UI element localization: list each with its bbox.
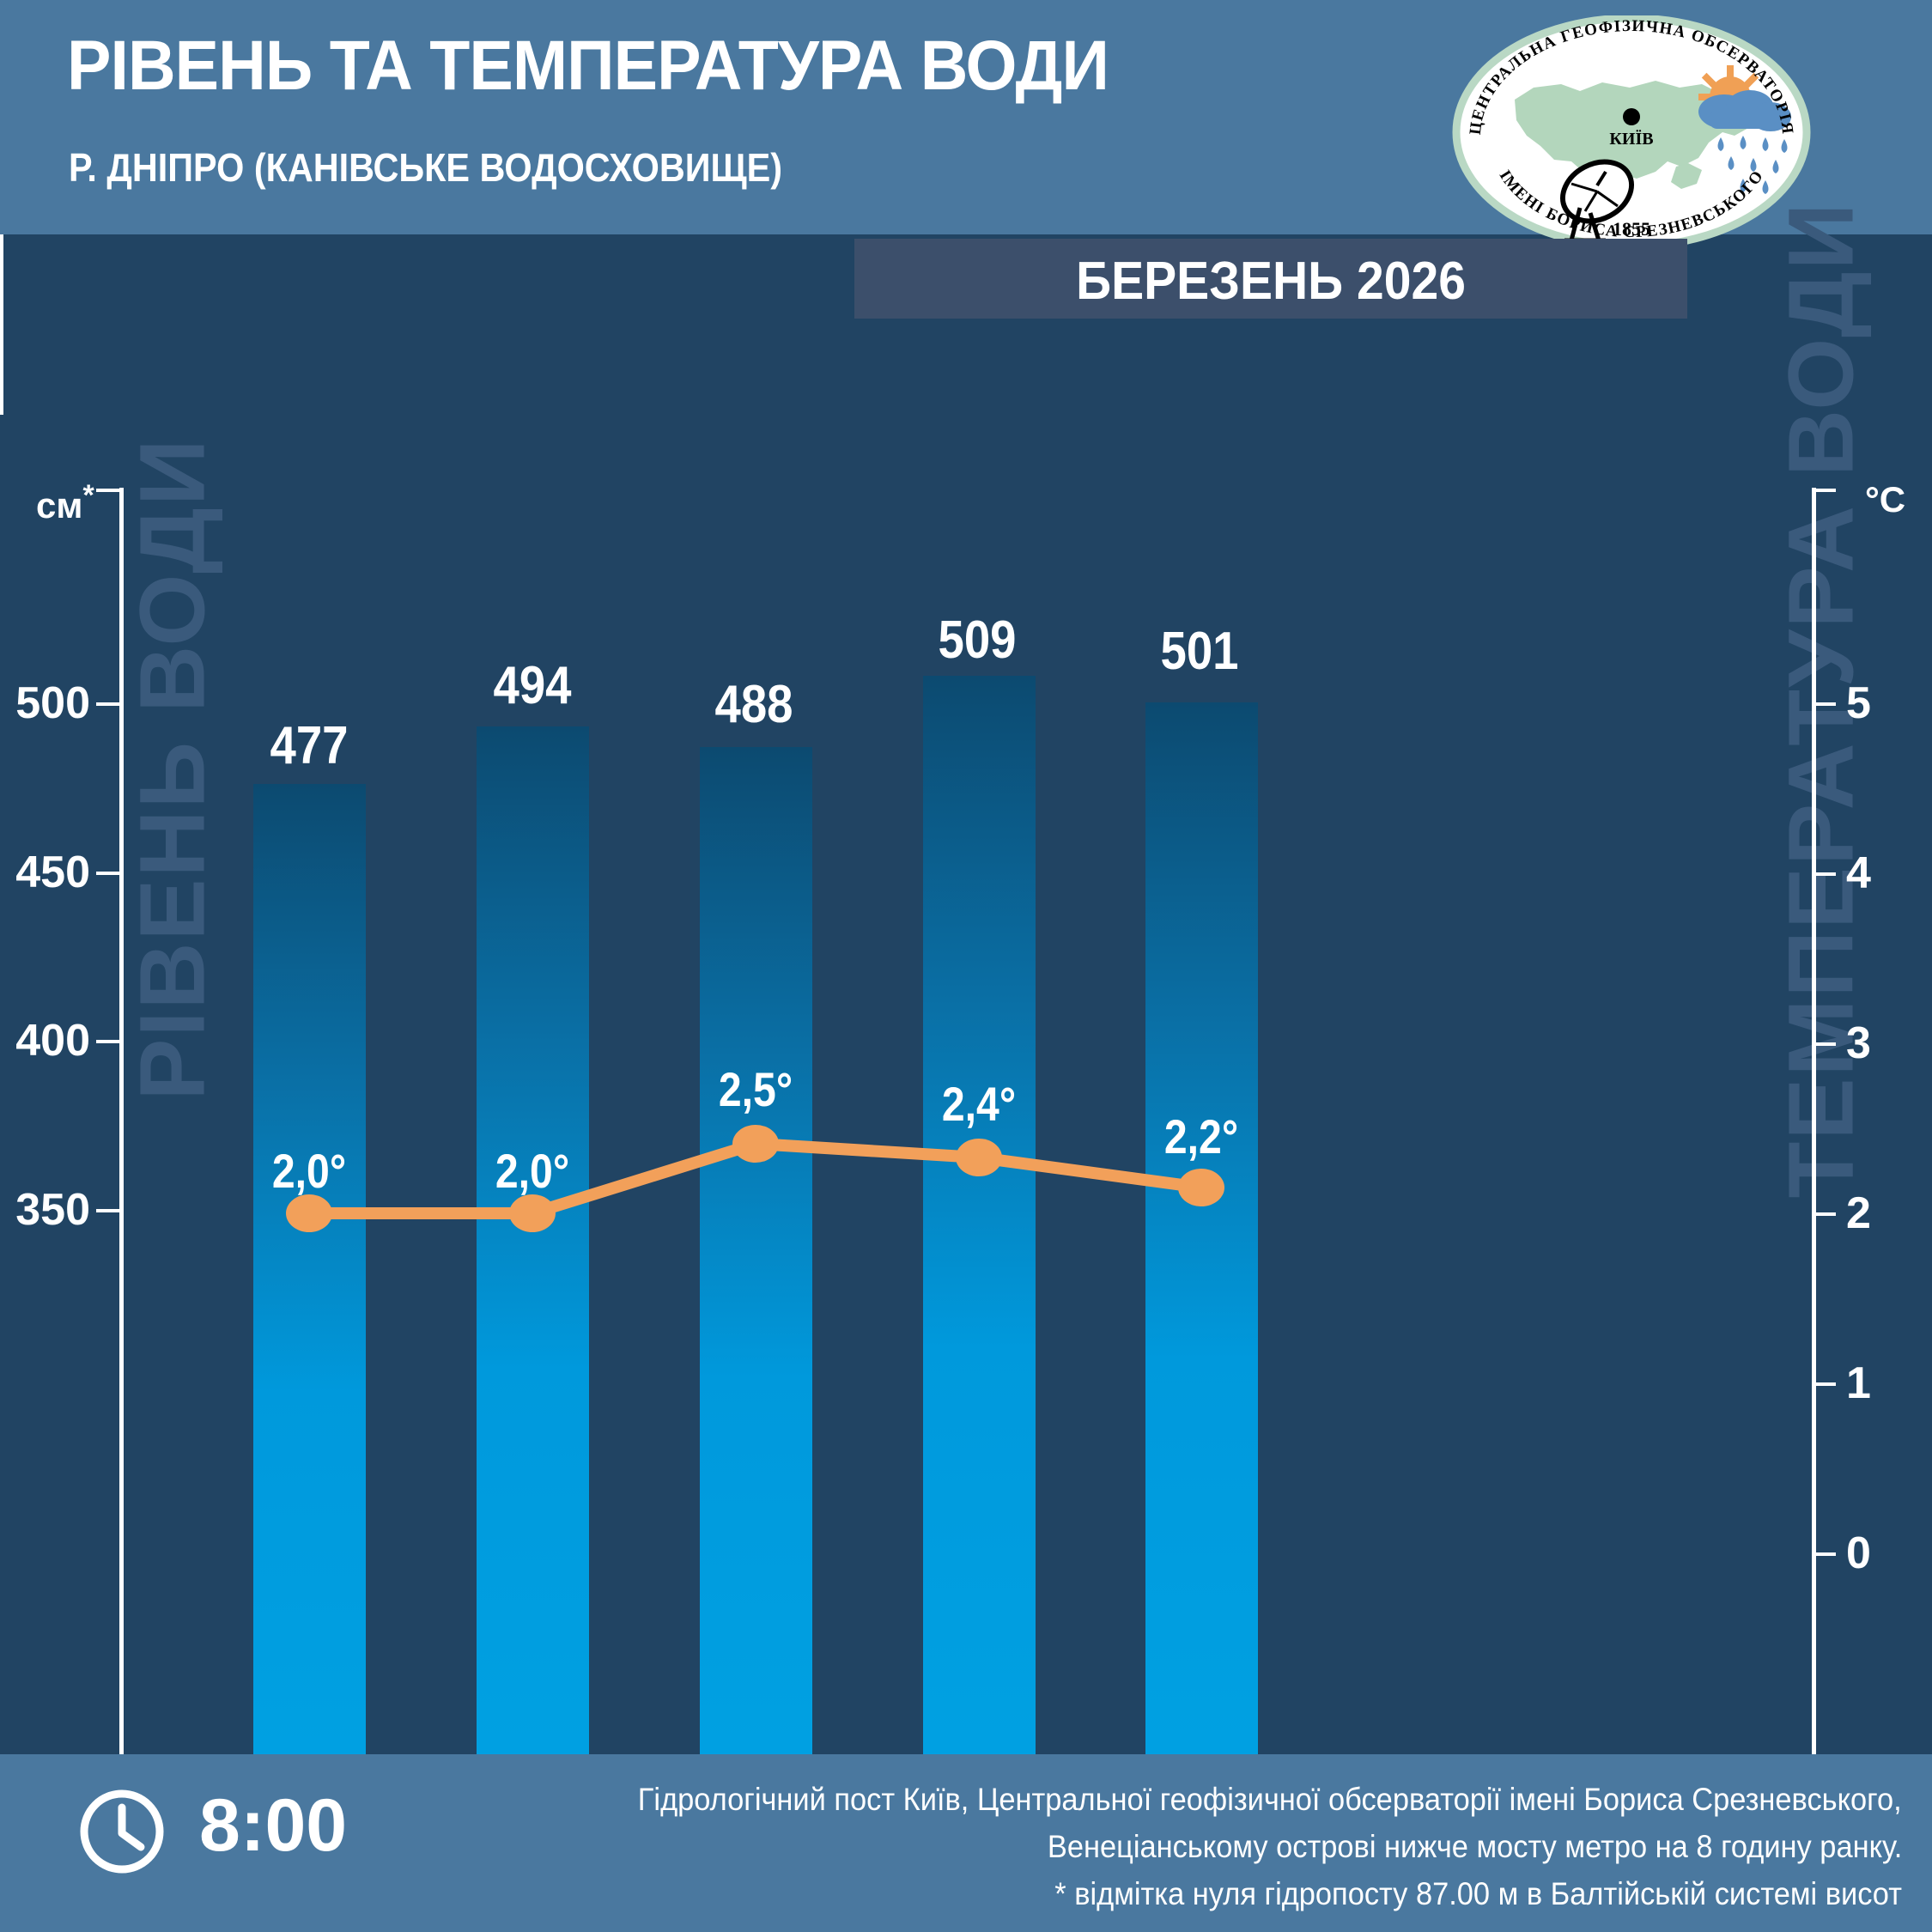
temp-label-18: 2,5° bbox=[667, 1061, 844, 1117]
page-footer: 8:00 Гідрологічний пост Київ, Центрально… bbox=[0, 1754, 1932, 1932]
page-title: РІВЕНЬ ТА ТЕМПЕРАТУРА ВОДИ bbox=[67, 26, 1109, 106]
footer-line-1: Гідрологічний пост Київ, Центральної гео… bbox=[638, 1782, 1902, 1818]
observation-time: 8:00 bbox=[199, 1783, 347, 1868]
temp-label-16: 2,0° bbox=[221, 1143, 398, 1199]
chart-area: РІВЕНЬ ВОДИ ТЕМПЕРАТУРА ВОДИ см* °C 500 … bbox=[0, 234, 1932, 1754]
temp-label-17: 2,0° bbox=[444, 1143, 621, 1199]
logo-city-label: КИЇВ bbox=[1609, 129, 1653, 149]
clock-icon bbox=[76, 1785, 168, 1878]
footer-line-3: * відмітка нуля гідропосту 87.00 м в Бал… bbox=[1054, 1876, 1902, 1912]
footer-line-2: Венеціанському острові нижче мосту метро… bbox=[1048, 1829, 1902, 1865]
page-subtitle: Р. ДНІПРО (КАНІВСЬКЕ ВОДОСХОВИЩЕ) bbox=[69, 144, 782, 191]
temperature-point-18 bbox=[732, 1125, 779, 1163]
temperature-point-16 bbox=[286, 1194, 332, 1232]
temperature-point-17 bbox=[509, 1194, 556, 1232]
temp-label-19: 2,4° bbox=[890, 1076, 1067, 1132]
temperature-line-series bbox=[0, 234, 1932, 1833]
temp-label-20: 2,2° bbox=[1113, 1109, 1290, 1164]
observatory-logo: КИЇВ bbox=[1451, 15, 1812, 249]
temperature-point-19 bbox=[956, 1139, 1002, 1176]
temperature-point-20 bbox=[1178, 1169, 1224, 1206]
